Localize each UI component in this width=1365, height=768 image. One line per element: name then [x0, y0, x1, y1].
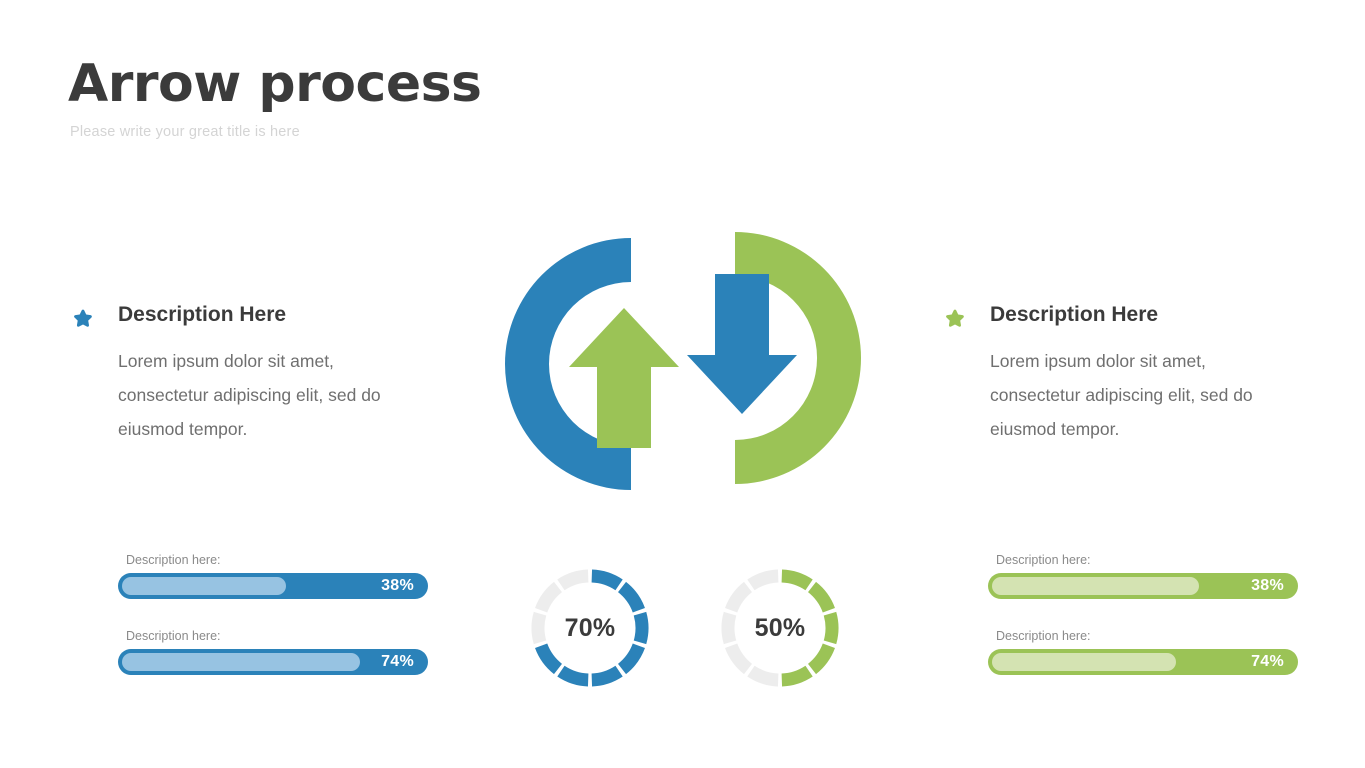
- progress-bar-row: Description here: 74%: [118, 629, 428, 675]
- progress-bar-row: Description here: 38%: [118, 553, 428, 599]
- description-heading-row: Description Here: [944, 303, 1274, 330]
- progress-bar-label: Description here:: [996, 553, 1298, 567]
- description-body: Lorem ipsum dolor sit amet, consectetur …: [990, 344, 1274, 446]
- description-heading-row: Description Here: [72, 303, 402, 330]
- progress-bar-value: 74%: [1251, 653, 1284, 671]
- progress-bar-value: 74%: [381, 653, 414, 671]
- progress-bar-track[interactable]: 74%: [988, 649, 1298, 675]
- slide-header: Arrow process Please write your great ti…: [68, 58, 482, 140]
- star-icon: [944, 308, 966, 330]
- progress-bars-left: Description here: 38% Description here: …: [118, 553, 428, 675]
- donut-chart-50: 50%: [715, 563, 845, 693]
- progress-bar-label: Description here:: [126, 629, 428, 643]
- star-icon: [72, 308, 94, 330]
- description-heading: Description Here: [990, 303, 1158, 326]
- progress-bar-fill: [992, 577, 1199, 595]
- progress-bars-right: Description here: 38% Description here: …: [988, 553, 1298, 675]
- progress-bar-value: 38%: [1251, 577, 1284, 595]
- description-block-right: Description Here Lorem ipsum dolor sit a…: [944, 303, 1274, 446]
- donut-center-label: 70%: [525, 563, 655, 693]
- page-title: Arrow process: [68, 58, 482, 110]
- progress-bar-track[interactable]: 74%: [118, 649, 428, 675]
- progress-bar-value: 38%: [381, 577, 414, 595]
- progress-bar-row: Description here: 74%: [988, 629, 1298, 675]
- progress-bar-row: Description here: 38%: [988, 553, 1298, 599]
- arrow-down-icon: [687, 274, 797, 414]
- progress-bar-fill: [992, 653, 1176, 671]
- donut-chart-70: 70%: [525, 563, 655, 693]
- arrow-process-graphic: [483, 216, 883, 506]
- donut-center-label: 50%: [715, 563, 845, 693]
- progress-bar-fill: [122, 653, 360, 671]
- page-subtitle: Please write your great title is here: [70, 124, 482, 140]
- progress-bar-track[interactable]: 38%: [988, 573, 1298, 599]
- description-body: Lorem ipsum dolor sit amet, consectetur …: [118, 344, 402, 446]
- progress-bar-fill: [122, 577, 286, 595]
- progress-bar-track[interactable]: 38%: [118, 573, 428, 599]
- description-block-left: Description Here Lorem ipsum dolor sit a…: [72, 303, 402, 446]
- progress-bar-label: Description here:: [996, 629, 1298, 643]
- progress-bar-label: Description here:: [126, 553, 428, 567]
- description-heading: Description Here: [118, 303, 286, 326]
- arrow-up-icon: [569, 308, 679, 448]
